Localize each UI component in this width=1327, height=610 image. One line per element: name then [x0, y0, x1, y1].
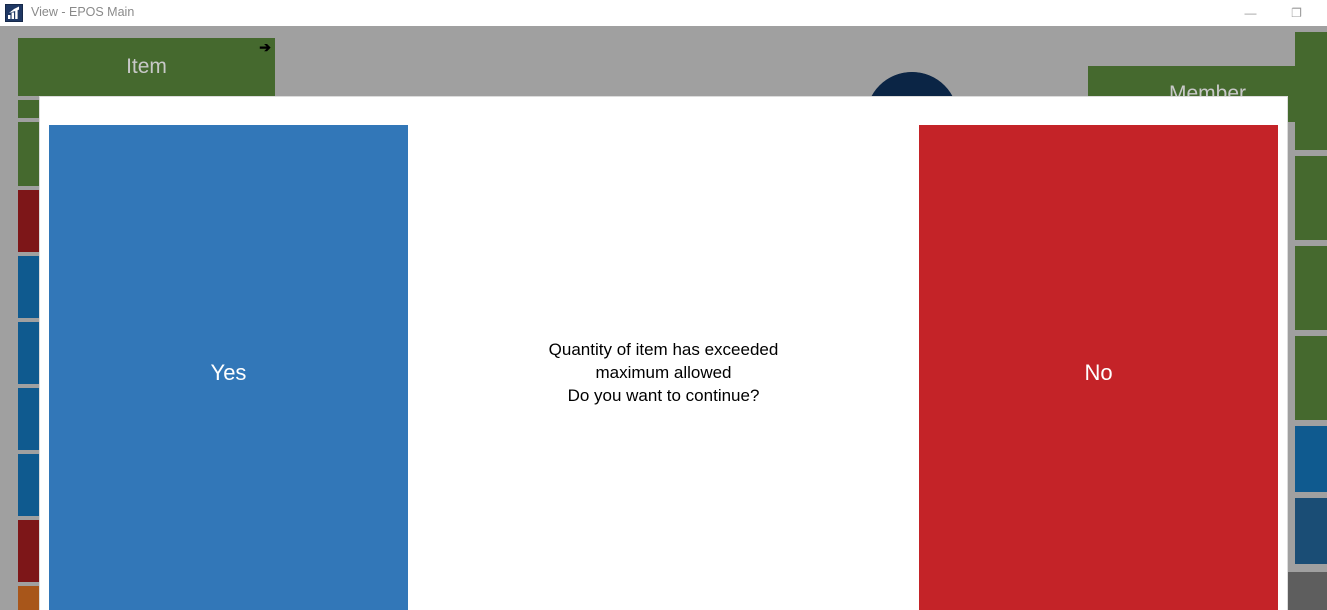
yes-button-label: Yes [211, 360, 247, 386]
sidebar-right-item-3[interactable] [1295, 246, 1327, 330]
epos-application: Item ➔ Key in Variant Code: 104 [0, 26, 1327, 610]
window-title: View - EPOS Main [31, 4, 134, 21]
window-titlebar: View - EPOS Main — ❐ [0, 0, 1327, 26]
minimize-button[interactable]: — [1228, 0, 1273, 26]
sidebar-right-item-1[interactable] [1295, 32, 1327, 150]
sidebar-right-item-6[interactable] [1295, 498, 1327, 564]
sidebar-right-item-5[interactable] [1295, 426, 1327, 492]
confirmation-dialog: Yes Quantity of item has exceeded maximu… [40, 97, 1287, 610]
sidebar-right-item-2[interactable] [1295, 156, 1327, 240]
item-button[interactable]: Item ➔ [18, 38, 275, 96]
arrow-right-icon: ➔ [259, 40, 271, 54]
no-button[interactable]: No [919, 125, 1278, 610]
sidebar-right-item-4[interactable] [1295, 336, 1327, 420]
chart-growth-icon [5, 4, 23, 22]
dialog-message: Quantity of item has exceeded maximum al… [418, 125, 909, 610]
no-button-label: No [1084, 360, 1112, 386]
restore-button[interactable]: ❐ [1274, 0, 1319, 26]
restore-icon: ❐ [1291, 7, 1302, 19]
item-button-label: Item [126, 55, 167, 79]
sidebar-right [1295, 26, 1327, 610]
minimize-icon: — [1245, 7, 1257, 19]
yes-button[interactable]: Yes [49, 125, 408, 610]
bottom-right-panel [1285, 572, 1327, 610]
